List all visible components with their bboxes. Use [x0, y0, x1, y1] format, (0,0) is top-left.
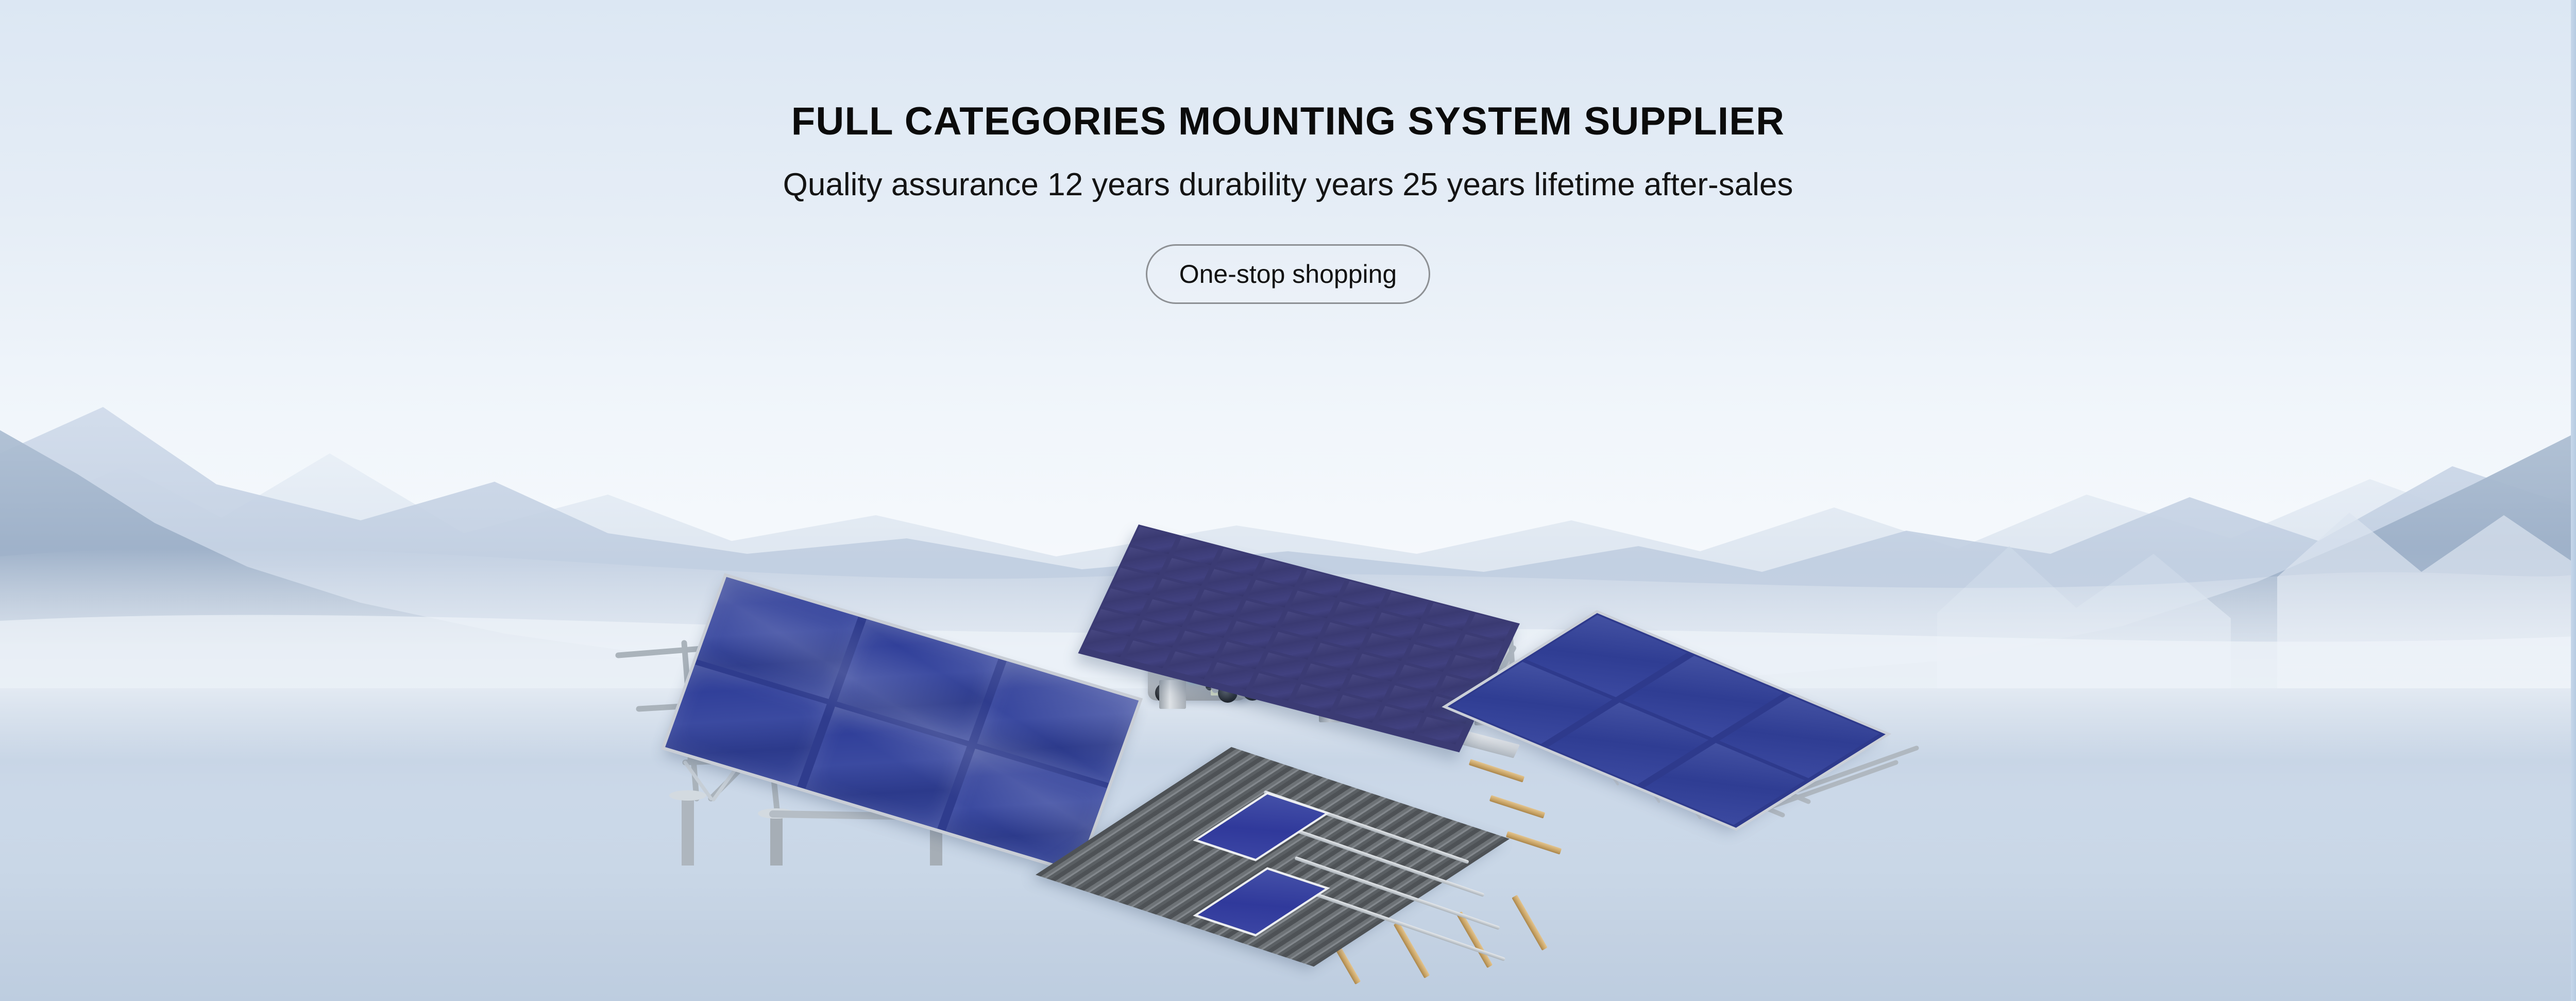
- hero-banner: FULL CATEGORIES MOUNTING SYSTEM SUPPLIER…: [0, 0, 2576, 1001]
- page-subtitle: Quality assurance 12 years durability ye…: [0, 143, 2576, 203]
- hero-copy-block: FULL CATEGORIES MOUNTING SYSTEM SUPPLIER…: [0, 0, 2576, 304]
- roof-batten: [1489, 795, 1545, 818]
- tile-roof-system: [1211, 737, 1571, 974]
- flat-roof-ballast-system: [1566, 598, 1989, 835]
- right-edge-strip: [2571, 0, 2576, 1001]
- roof-batten: [1469, 759, 1524, 782]
- roof-batten: [1506, 831, 1562, 854]
- page-title: FULL CATEGORIES MOUNTING SYSTEM SUPPLIER: [0, 0, 2576, 143]
- cta-wrapper: One-stop shopping: [0, 244, 2576, 304]
- one-stop-shopping-button[interactable]: One-stop shopping: [1146, 244, 1431, 304]
- carport-footing: [1159, 680, 1186, 709]
- roof-batten: [1512, 895, 1547, 951]
